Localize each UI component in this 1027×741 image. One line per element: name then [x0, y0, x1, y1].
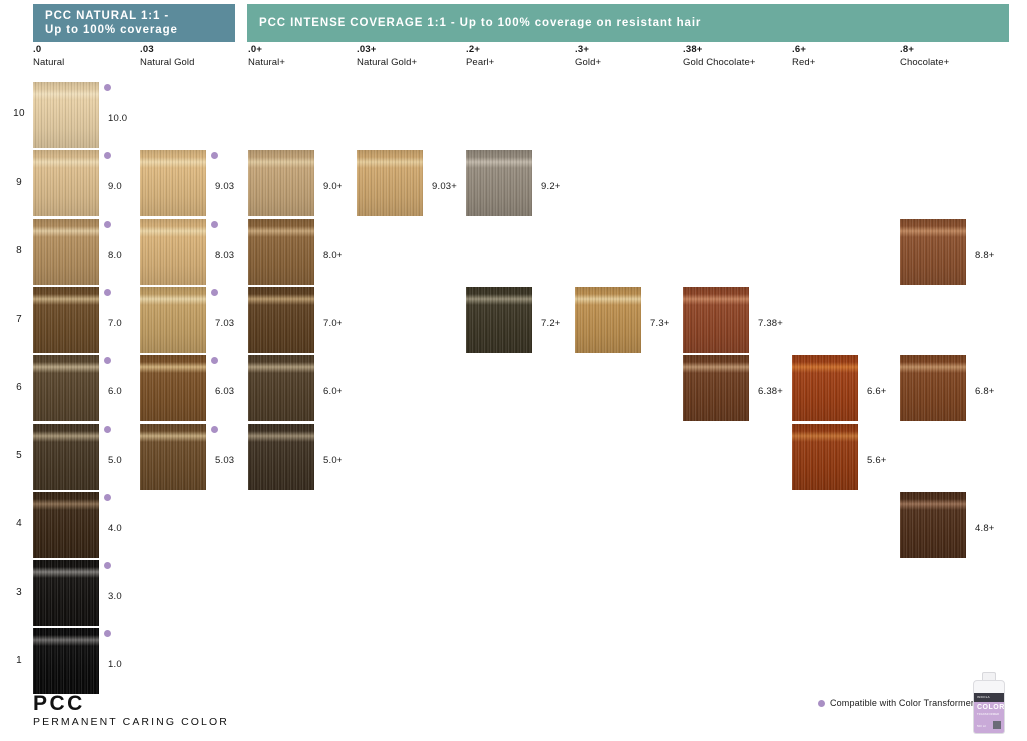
swatch-4-0[interactable]	[33, 492, 99, 558]
swatch-code-label: 8.8+	[975, 250, 995, 261]
swatch-6-0[interactable]	[33, 355, 99, 421]
swatch-code-label: 8.03	[215, 250, 234, 261]
compatible-dot-icon	[211, 289, 218, 296]
column-code: .38+	[683, 44, 756, 56]
compatible-dot-icon	[104, 289, 111, 296]
swatch-code-label: 7.2+	[541, 318, 561, 329]
swatch-code-label: 8.0	[108, 250, 122, 261]
swatch-vertical-shading	[466, 150, 532, 216]
column-name: Chocolate+	[900, 56, 949, 69]
color-chart-page: PCC NATURAL 1:1 - Up to 100% coverage PC…	[0, 0, 1027, 741]
swatch-code-label: 5.0	[108, 455, 122, 466]
swatch-9-03-plus[interactable]	[357, 150, 423, 216]
legend-label: Compatible with Color Transformer	[830, 698, 974, 708]
swatch-vertical-shading	[900, 355, 966, 421]
swatch-6-38-plus[interactable]	[683, 355, 749, 421]
column-name: Gold+	[575, 56, 601, 69]
swatch-code-label: 5.0+	[323, 455, 343, 466]
swatch-1-0[interactable]	[33, 628, 99, 694]
compatible-dot-icon	[104, 426, 111, 433]
bottle-volume-text: 500 ml	[977, 725, 986, 728]
column-code: .0	[33, 44, 64, 56]
swatch-vertical-shading	[683, 355, 749, 421]
swatch-5-6-plus[interactable]	[792, 424, 858, 490]
swatch-vertical-shading	[248, 287, 314, 353]
swatch-vertical-shading	[140, 287, 206, 353]
swatch-code-label: 4.0	[108, 523, 122, 534]
swatch-vertical-shading	[33, 492, 99, 558]
compatible-dot-icon	[211, 357, 218, 364]
column-header-pearl: .2+Pearl+	[466, 44, 494, 69]
compatible-dot-icon	[211, 426, 218, 433]
compatible-dot-icon	[211, 221, 218, 228]
swatch-code-label: 7.0+	[323, 318, 343, 329]
compatible-dot-icon	[104, 221, 111, 228]
swatch-vertical-shading	[33, 424, 99, 490]
compatible-dot-icon	[104, 562, 111, 569]
swatch-code-label: 1.0	[108, 659, 122, 670]
swatch-vertical-shading	[33, 219, 99, 285]
swatch-5-03[interactable]	[140, 424, 206, 490]
swatch-9-0[interactable]	[33, 150, 99, 216]
compatible-dot-icon	[104, 84, 111, 91]
column-name: Natural Gold	[140, 56, 195, 69]
swatch-8-03[interactable]	[140, 219, 206, 285]
swatch-3-0[interactable]	[33, 560, 99, 626]
swatch-code-label: 7.38+	[758, 318, 783, 329]
column-name: Pearl+	[466, 56, 494, 69]
swatch-vertical-shading	[140, 355, 206, 421]
swatch-vertical-shading	[575, 287, 641, 353]
swatch-code-label: 7.0	[108, 318, 122, 329]
swatch-code-label: 7.3+	[650, 318, 670, 329]
swatch-vertical-shading	[683, 287, 749, 353]
row-level-8: 8	[10, 245, 28, 256]
swatch-code-label: 8.0+	[323, 250, 343, 261]
swatch-5-0[interactable]	[33, 424, 99, 490]
compatible-dot-icon	[104, 494, 111, 501]
row-level-4: 4	[10, 518, 28, 529]
compatible-dot-icon	[104, 357, 111, 364]
band-intense-text: PCC INTENSE COVERAGE 1:1 - Up to 100% co…	[259, 16, 701, 30]
swatch-vertical-shading	[248, 424, 314, 490]
swatch-vertical-shading	[900, 492, 966, 558]
band-pcc-intense-coverage: PCC INTENSE COVERAGE 1:1 - Up to 100% co…	[247, 4, 1009, 42]
swatch-6-0-plus[interactable]	[248, 355, 314, 421]
column-code: .03	[140, 44, 195, 56]
column-header-gold: .3+Gold+	[575, 44, 601, 69]
swatch-7-0[interactable]	[33, 287, 99, 353]
swatch-7-0-plus[interactable]	[248, 287, 314, 353]
swatch-code-label: 9.03+	[432, 181, 457, 192]
swatch-code-label: 10.0	[108, 113, 127, 124]
column-name: Natural+	[248, 56, 285, 69]
logo-title: PCC	[33, 692, 229, 715]
swatch-6-03[interactable]	[140, 355, 206, 421]
swatch-vertical-shading	[248, 355, 314, 421]
swatch-code-label: 4.8+	[975, 523, 995, 534]
swatch-7-03[interactable]	[140, 287, 206, 353]
row-level-9: 9	[10, 177, 28, 188]
column-code: .3+	[575, 44, 601, 56]
column-code: .8+	[900, 44, 949, 56]
swatch-code-label: 9.03	[215, 181, 234, 192]
swatch-5-0-plus[interactable]	[248, 424, 314, 490]
swatch-vertical-shading	[33, 150, 99, 216]
swatch-8-8-plus[interactable]	[900, 219, 966, 285]
swatch-vertical-shading	[792, 355, 858, 421]
swatch-9-03[interactable]	[140, 150, 206, 216]
swatch-7-2-plus[interactable]	[466, 287, 532, 353]
bottle-swatch-box	[993, 721, 1001, 729]
swatch-code-label: 5.6+	[867, 455, 887, 466]
column-name: Red+	[792, 56, 815, 69]
swatch-code-label: 6.0+	[323, 386, 343, 397]
swatch-code-label: 9.0	[108, 181, 122, 192]
column-code: .2+	[466, 44, 494, 56]
swatch-vertical-shading	[248, 219, 314, 285]
swatch-code-label: 3.0	[108, 591, 122, 602]
swatch-7-38-plus[interactable]	[683, 287, 749, 353]
pcc-logo: PCC PERMANENT CARING COLOR	[33, 692, 229, 729]
column-header-natural: .0+Natural+	[248, 44, 285, 69]
swatch-vertical-shading	[466, 287, 532, 353]
swatch-vertical-shading	[33, 628, 99, 694]
row-level-1: 1	[10, 655, 28, 666]
band-natural-text: PCC NATURAL 1:1 - Up to 100% coverage	[45, 9, 178, 37]
swatch-6-6-plus[interactable]	[792, 355, 858, 421]
swatch-code-label: 9.0+	[323, 181, 343, 192]
swatch-vertical-shading	[140, 150, 206, 216]
swatch-6-8-plus[interactable]	[900, 355, 966, 421]
row-level-10: 10	[10, 108, 28, 119]
swatch-code-label: 6.0	[108, 386, 122, 397]
bottle-brand-text: INDOLA	[977, 695, 990, 699]
swatch-10-0[interactable]	[33, 82, 99, 148]
swatch-code-label: 9.2+	[541, 181, 561, 192]
swatch-vertical-shading	[792, 424, 858, 490]
legend-dot-icon	[818, 700, 825, 707]
column-header-natural-gold: .03Natural Gold	[140, 44, 195, 69]
column-name: Gold Chocolate+	[683, 56, 756, 69]
swatch-9-2-plus[interactable]	[466, 150, 532, 216]
logo-subtitle: PERMANENT CARING COLOR	[33, 715, 229, 729]
column-header-gold-chocolate: .38+Gold Chocolate+	[683, 44, 756, 69]
compatible-dot-icon	[104, 152, 111, 159]
column-name: Natural Gold+	[357, 56, 417, 69]
column-name: Natural	[33, 56, 64, 69]
row-level-5: 5	[10, 450, 28, 461]
column-header-natural: .0Natural	[33, 44, 64, 69]
compatible-dot-icon	[104, 630, 111, 637]
color-transformer-bottle-image: INDOLA COLOR TRANSFORMER 500 ml	[971, 672, 1007, 734]
swatch-vertical-shading	[33, 287, 99, 353]
swatch-code-label: 7.03	[215, 318, 234, 329]
swatch-9-0-plus[interactable]	[248, 150, 314, 216]
swatch-vertical-shading	[248, 150, 314, 216]
column-header-red: .6+Red+	[792, 44, 815, 69]
swatch-code-label: 5.03	[215, 455, 234, 466]
swatch-vertical-shading	[900, 219, 966, 285]
bottle-color-label: COLOR	[977, 704, 1005, 711]
swatch-8-0-plus[interactable]	[248, 219, 314, 285]
row-level-7: 7	[10, 314, 28, 325]
swatch-code-label: 6.6+	[867, 386, 887, 397]
column-code: .6+	[792, 44, 815, 56]
compatible-dot-icon	[211, 152, 218, 159]
column-code: .0+	[248, 44, 285, 56]
swatch-4-8-plus[interactable]	[900, 492, 966, 558]
band-pcc-natural: PCC NATURAL 1:1 - Up to 100% coverage	[33, 4, 235, 42]
row-level-6: 6	[10, 382, 28, 393]
column-code: .03+	[357, 44, 417, 56]
legend-compatible-color-transformer: Compatible with Color Transformer	[818, 698, 974, 708]
swatch-code-label: 6.38+	[758, 386, 783, 397]
swatch-7-3-plus[interactable]	[575, 287, 641, 353]
swatch-vertical-shading	[140, 219, 206, 285]
swatch-8-0[interactable]	[33, 219, 99, 285]
swatch-code-label: 6.03	[215, 386, 234, 397]
column-header-natural-gold: .03+Natural Gold+	[357, 44, 417, 69]
bottle-body: INDOLA COLOR TRANSFORMER 500 ml	[973, 680, 1005, 734]
bottle-sub-label: TRANSFORMER	[977, 713, 999, 716]
swatch-vertical-shading	[33, 355, 99, 421]
column-header-chocolate: .8+Chocolate+	[900, 44, 949, 69]
swatch-code-label: 6.8+	[975, 386, 995, 397]
swatch-vertical-shading	[33, 82, 99, 148]
swatch-vertical-shading	[140, 424, 206, 490]
row-level-3: 3	[10, 587, 28, 598]
swatch-vertical-shading	[357, 150, 423, 216]
swatch-vertical-shading	[33, 560, 99, 626]
